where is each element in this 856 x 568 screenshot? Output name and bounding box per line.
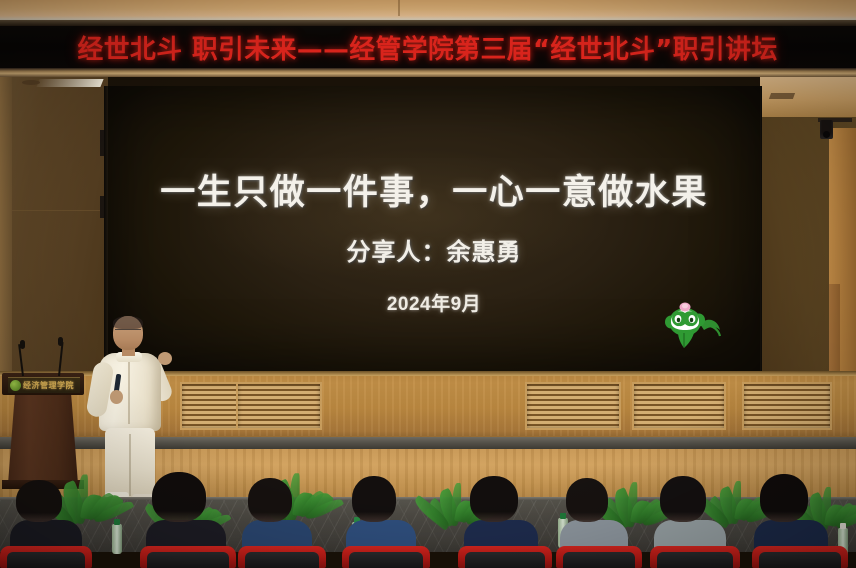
wall-vent-panel [525,382,621,430]
audience-chair-cushion [465,552,545,568]
speaker-hand-left [110,390,123,404]
podium-microphone-left-head [20,340,25,349]
bottle-cap [560,513,566,519]
podium-plaque-text: 经济管理学院 [23,380,74,391]
bottle-cap [114,519,120,525]
audience-chair-cushion [147,552,229,568]
led-banner-text: 经世北斗 职引未来——经管学院第三届“经世北斗”职引讲坛 [78,29,778,66]
audience-chair-cushion [245,552,319,568]
led-banner-frame [0,68,856,77]
audience-chair-cushion [7,552,85,568]
wood-column-right-lower [829,284,840,378]
slide-date: 2024年9月 [387,289,481,316]
speaker-leg-split [129,434,131,496]
camera-lens-icon [823,131,830,138]
wall-seam-left [12,210,108,211]
ceiling-light-strip [36,79,103,87]
speaker-shirt-placket [128,358,130,424]
audience-member-head [660,476,706,522]
audience-member-head [16,480,62,522]
wall-vent-left [22,80,40,85]
glasses-icon [115,329,141,335]
speaker-hair [113,316,143,329]
slide-presenter-line: 分享人：余惠勇 [347,232,522,267]
audience-chair-cushion [349,552,423,568]
audience-chair-cushion [759,552,841,568]
slide-title: 一生只做一件事，一心一意做水果 [160,164,708,215]
audience-chair-cushion [657,552,733,568]
auditorium-screenshot: 经世北斗 职引未来——经管学院第三届“经世北斗”职引讲坛 一生只做一件事，一心一… [0,0,856,568]
wall-vent-panel [236,382,322,430]
podium-microphone-right-head [58,337,63,346]
wall-vent-right [769,93,795,99]
podium-plaque: 经济管理学院 [8,377,80,393]
audience-member-head [566,478,608,522]
audience-member-head [152,472,206,522]
audience-member-head [760,474,808,522]
audience-chair-cushion [563,552,635,568]
school-logo-icon [10,380,21,391]
bottle-cap [840,523,846,529]
led-banner: 经世北斗 职引未来——经管学院第三届“经世北斗”职引讲坛 [0,26,856,68]
ceiling-seam [398,0,400,16]
wall-vent-panel [742,382,832,430]
wall-vent-panel [632,382,726,430]
audience-member-head [352,476,396,522]
ceiling [0,0,856,22]
water-bottle [112,524,122,554]
audience-member-head [248,478,292,522]
green-monkey-mascot-icon [660,300,722,352]
audience-member-head [470,476,518,522]
wall-edge-left [0,77,12,377]
